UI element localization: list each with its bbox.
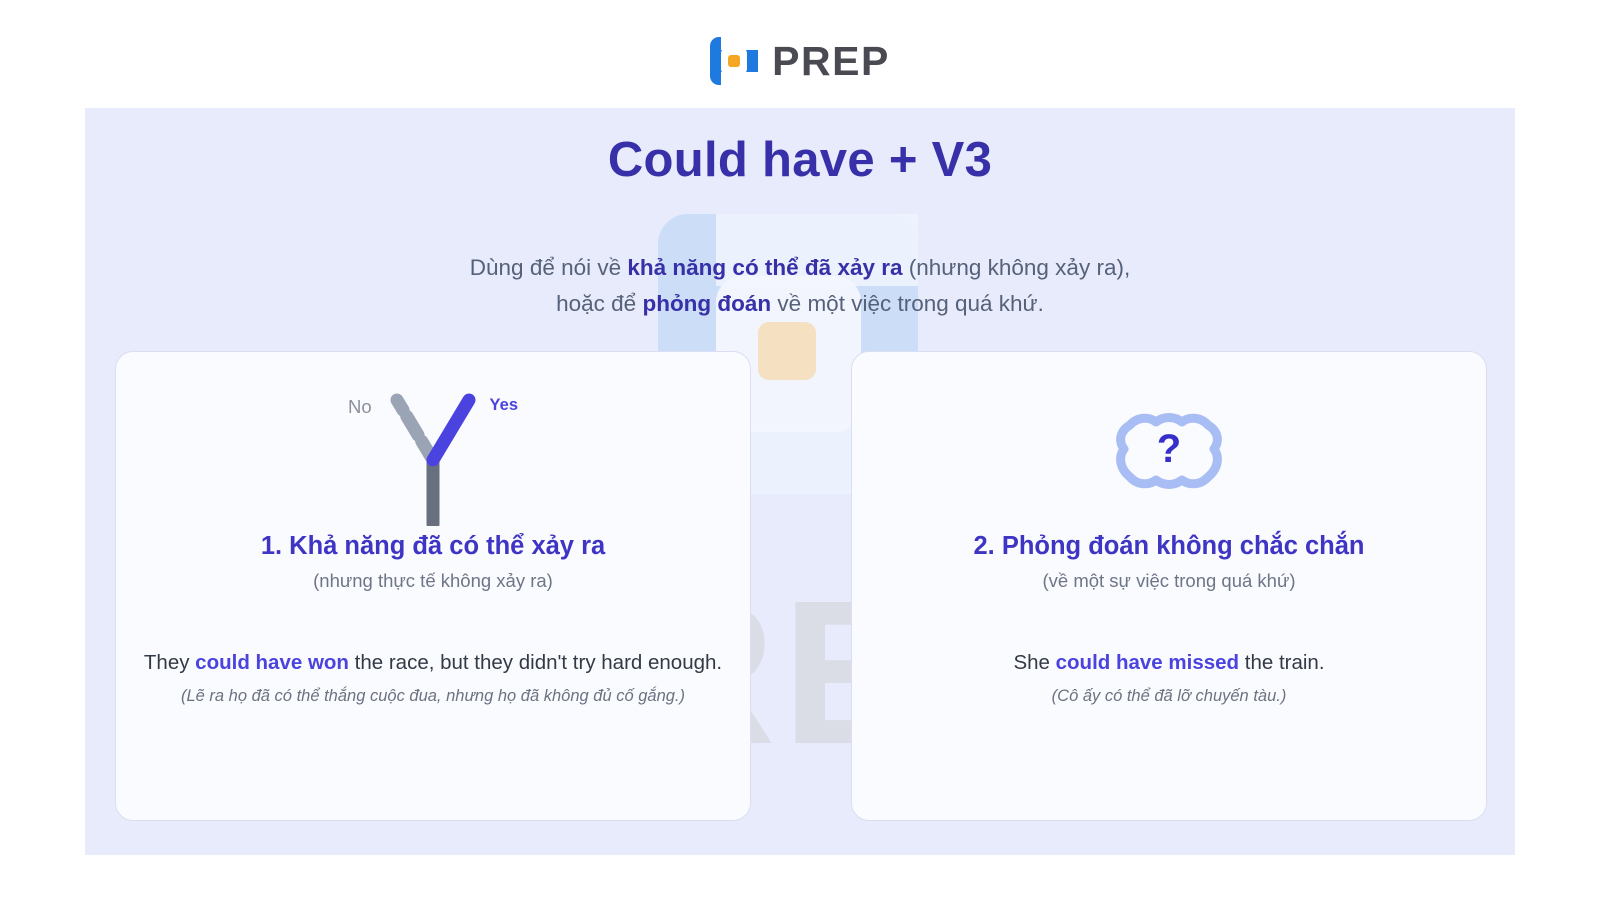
- lesson-panel: PREP Could have + V3 Dùng để nói về khả …: [85, 108, 1515, 855]
- card-1-example-post: the race, but they didn't try hard enoug…: [349, 651, 722, 674]
- question-mark-glyph: ?: [1108, 411, 1230, 491]
- description-line2-highlight: phỏng đoán: [642, 291, 771, 316]
- card-1-heading: 1. Khả năng đã có thể xảy ra: [142, 532, 724, 561]
- page-title: Could have + V3: [85, 132, 1515, 188]
- card-1-example: They could have won the race, but they d…: [142, 649, 724, 677]
- fork-label-yes: Yes: [490, 396, 518, 415]
- description-line1-post: (nhưng không xảy ra),: [903, 255, 1131, 280]
- description-line2-post: về một việc trong quá khứ.: [771, 291, 1044, 316]
- card-1-translation: (Lẽ ra họ đã có thể thắng cuộc đua, nhưn…: [142, 687, 724, 706]
- card-1-example-highlight: could have won: [195, 651, 349, 674]
- card-1-illustration: No Yes: [142, 376, 724, 526]
- card-1-subheading: (nhưng thực tế không xảy ra): [142, 570, 724, 592]
- question-thought-bubble-icon: ?: [1108, 411, 1230, 491]
- card-2-example: She could have missed the train.: [878, 649, 1460, 677]
- brand-header: PREP: [0, 34, 1600, 88]
- card-2-illustration: ?: [878, 376, 1460, 526]
- usage-card-2: ? 2. Phỏng đoán không chắc chắn (về một …: [851, 351, 1487, 821]
- usage-card-1: No Yes 1. Khả năng đã có thể xảy ra (như…: [115, 351, 751, 821]
- description-line2-pre: hoặc để: [556, 291, 642, 316]
- description-line1-pre: Dùng để nói về: [470, 255, 628, 280]
- card-1-example-pre: They: [144, 651, 195, 674]
- logo-accent-square: [728, 55, 740, 67]
- card-2-example-pre: She: [1013, 651, 1055, 674]
- fork-label-no: No: [348, 396, 372, 418]
- description-line1-highlight: khả năng có thể đã xảy ra: [627, 255, 902, 280]
- lesson-description: Dùng để nói về khả năng có thể đã xảy ra…: [85, 250, 1515, 322]
- card-2-subheading: (về một sự việc trong quá khứ): [878, 570, 1460, 592]
- card-2-heading: 2. Phỏng đoán không chắc chắn: [878, 532, 1460, 561]
- prep-logo-icon: [710, 37, 758, 85]
- card-2-example-post: the train.: [1239, 651, 1324, 674]
- brand-wordmark: PREP: [772, 41, 890, 82]
- usage-cards: No Yes 1. Khả năng đã có thể xảy ra (như…: [115, 351, 1487, 821]
- card-2-example-highlight: could have missed: [1056, 651, 1239, 674]
- infographic-canvas: PREP PREP Could have + V3 Dùng để nói về…: [0, 0, 1600, 900]
- card-2-translation: (Cô ấy có thể đã lỡ chuyến tàu.): [878, 687, 1460, 706]
- fork-branch-icon: No Yes: [348, 376, 518, 526]
